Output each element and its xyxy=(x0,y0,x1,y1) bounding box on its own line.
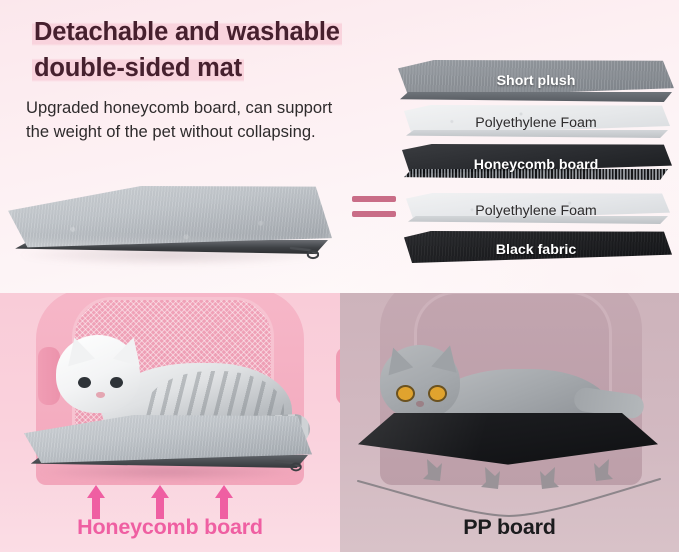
cat-ear-right xyxy=(431,342,462,373)
layer-edge xyxy=(406,130,668,138)
arrow-down-icon xyxy=(538,467,564,497)
zipper-pull-icon xyxy=(274,457,302,473)
equals-sign-icon xyxy=(352,196,396,217)
subhead-line-1: Upgraded honeycomb board, can support xyxy=(26,98,332,117)
arrow-down-icon xyxy=(418,459,444,489)
page-headline: Detachable and washable double-sided mat xyxy=(32,14,412,86)
arrow-down-icon xyxy=(592,459,618,489)
cat-eye-left xyxy=(396,385,415,402)
load-arrows-down xyxy=(366,465,650,509)
cat-ear-left xyxy=(381,344,413,376)
headline-line-1: Detachable and washable xyxy=(32,18,342,46)
layer-label: Polyethylene Foam xyxy=(475,115,596,131)
layer-short-plush: Short plush xyxy=(398,60,674,106)
headline-line-2: double-sided mat xyxy=(32,54,244,82)
arrow-down-icon xyxy=(476,467,502,497)
layer-stack-diagram: Short plush Polyethylene Foam Honeycomb … xyxy=(398,60,674,272)
caption-pp-board: PP board xyxy=(340,515,679,540)
layer-polyethylene-foam-top: Polyethylene Foam xyxy=(398,105,674,145)
comparison-left-honeycomb: Honeycomb board xyxy=(0,293,340,552)
zipper-pull-icon xyxy=(289,244,319,261)
caption-honeycomb-board: Honeycomb board xyxy=(0,515,340,540)
arrow-up-icon xyxy=(86,485,106,519)
honeycomb-mat-flat xyxy=(24,415,314,487)
cat-eye-right xyxy=(110,377,123,388)
comparison-section: Honeycomb board xyxy=(0,293,679,552)
cat-head xyxy=(380,345,460,419)
equals-bar-top xyxy=(352,196,396,202)
layer-label: Honeycomb board xyxy=(474,157,599,173)
layer-black-fabric: Black fabric xyxy=(398,231,674,273)
comparison-right-pp-board: PP board xyxy=(340,293,679,552)
top-section: Detachable and washable double-sided mat… xyxy=(0,0,679,293)
mat-plush-texture xyxy=(8,186,332,248)
product-infographic: Detachable and washable double-sided mat… xyxy=(0,0,679,552)
cat-ear-left xyxy=(61,334,95,367)
cat-ear-right xyxy=(113,334,147,367)
arrow-up-icon xyxy=(150,485,170,519)
layer-label: Black fabric xyxy=(496,242,576,258)
arrow-up-icon xyxy=(214,485,234,519)
cat-eye-right xyxy=(428,385,447,402)
layer-polyethylene-foam-bottom: Polyethylene Foam xyxy=(398,193,674,233)
layer-label: Polyethylene Foam xyxy=(475,203,596,219)
layer-label: Short plush xyxy=(497,73,576,89)
layer-honeycomb-board: Honeycomb board xyxy=(398,144,674,190)
subhead-line-2: the weight of the pet without collapsing… xyxy=(26,122,316,141)
equals-bar-bottom xyxy=(352,211,396,217)
cat-nose xyxy=(416,401,424,407)
layer-edge xyxy=(400,92,672,102)
cat-head xyxy=(56,335,140,413)
page-subhead: Upgraded honeycomb board, can support th… xyxy=(26,96,398,145)
cat-nose xyxy=(96,392,105,398)
mat-product-illustration xyxy=(8,178,338,278)
cat-eye-left xyxy=(78,377,91,388)
